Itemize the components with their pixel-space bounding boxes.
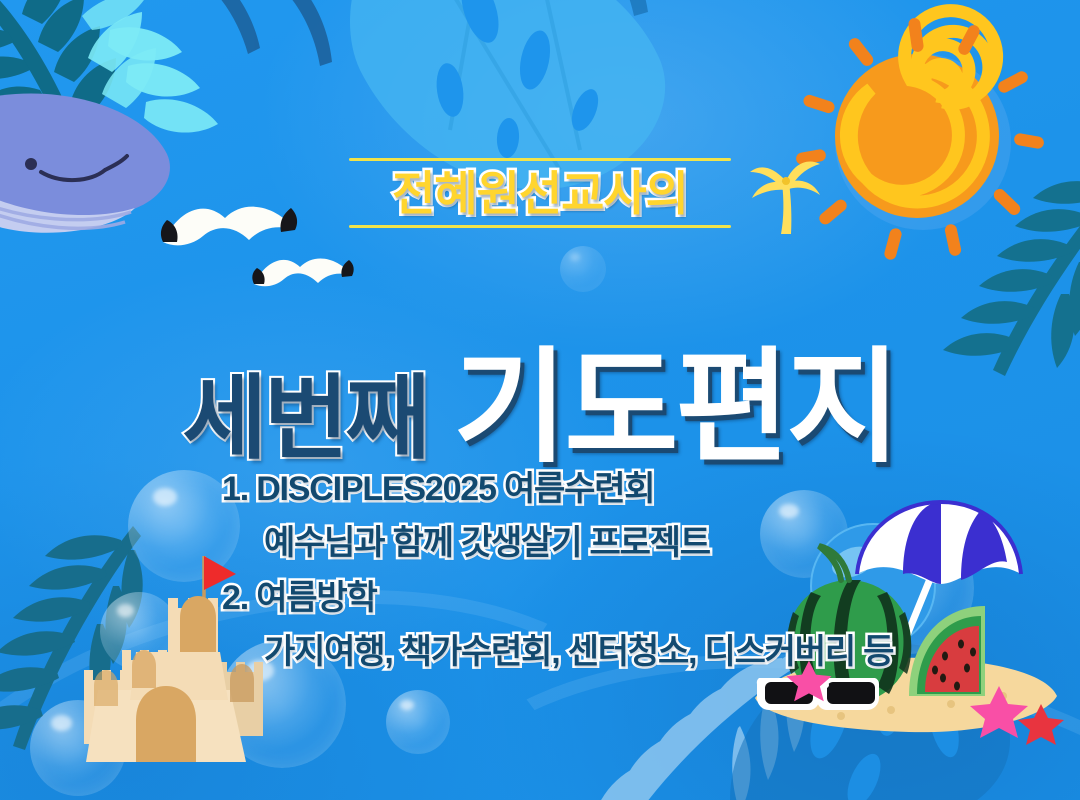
title-part-main: 기도편지	[453, 306, 897, 486]
rule-bottom	[349, 225, 731, 228]
title-part-ordinal: 세번째	[182, 344, 427, 477]
poster-canvas: 전혜원선교사의 세번째기도편지 1. DISCIPLES2025 여름수련회 예…	[0, 0, 1080, 800]
bubble-7	[386, 690, 450, 754]
list-item: 예수님과 함께 갓생살기 프로젝트	[222, 516, 942, 570]
bubble-8	[560, 246, 606, 292]
bubble-2	[100, 592, 178, 670]
subtitle-text: 전혜원선교사의	[0, 161, 1080, 225]
bubble-4	[30, 700, 126, 796]
subtitle-block: 전혜원선교사의	[0, 158, 1080, 228]
list-item: 가지여행, 책가수련회, 센터청소, 디스커버리 등	[222, 625, 942, 679]
main-title: 세번째기도편지	[0, 306, 1080, 486]
list-item: 2. 여름방학	[222, 571, 942, 625]
list-item: 1. DISCIPLES2025 여름수련회	[222, 462, 942, 516]
content-list: 1. DISCIPLES2025 여름수련회 예수님과 함께 갓생살기 프로젝트…	[222, 462, 942, 680]
